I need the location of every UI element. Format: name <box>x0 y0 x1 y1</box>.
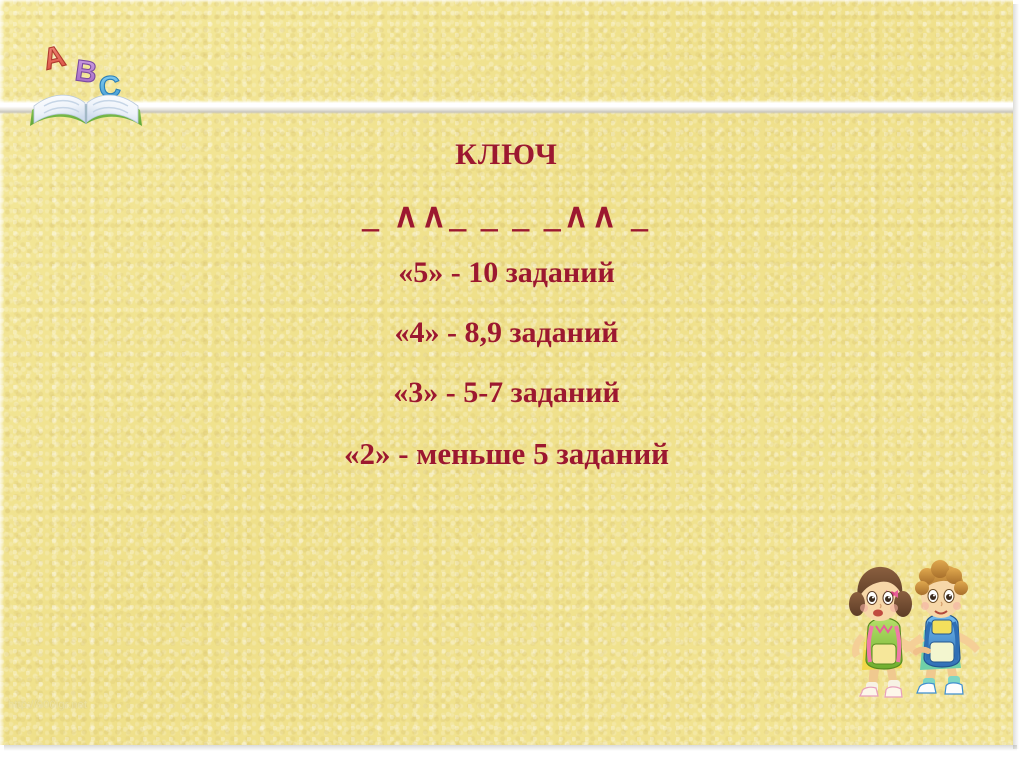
svg-text:B: B <box>73 54 99 90</box>
slide-bottom-shadow <box>4 745 1017 751</box>
abc-book-logo: A B C <box>24 22 152 144</box>
grade-line-2: «2» - меньше 5 заданий <box>0 438 1013 469</box>
page-title: КЛЮЧ <box>0 140 1013 170</box>
svg-text:A: A <box>40 40 69 77</box>
answer-pattern: _ ∧∧_ _ _ _∧∧ _ <box>0 196 1013 236</box>
text-block: КЛЮЧ _ ∧∧_ _ _ _∧∧ _ «5» - 10 заданий «4… <box>0 140 1013 469</box>
source-watermark: http://900igr.net <box>8 699 87 711</box>
grade-line-4: «4» - 8,9 заданий <box>0 318 1013 348</box>
girl-figure <box>849 567 920 697</box>
boy-figure <box>902 560 980 694</box>
logo-open-book <box>30 95 142 126</box>
slide: A B C <box>0 0 1024 767</box>
logo-letter-a: A <box>40 40 69 77</box>
grade-line-5: «5» - 10 заданий <box>0 258 1013 288</box>
slide-right-shadow <box>1013 4 1019 749</box>
logo-letter-b: B <box>73 54 99 90</box>
two-schoolchildren-illustration <box>824 556 996 712</box>
grade-line-3: «3» - 5-7 заданий <box>0 378 1013 408</box>
